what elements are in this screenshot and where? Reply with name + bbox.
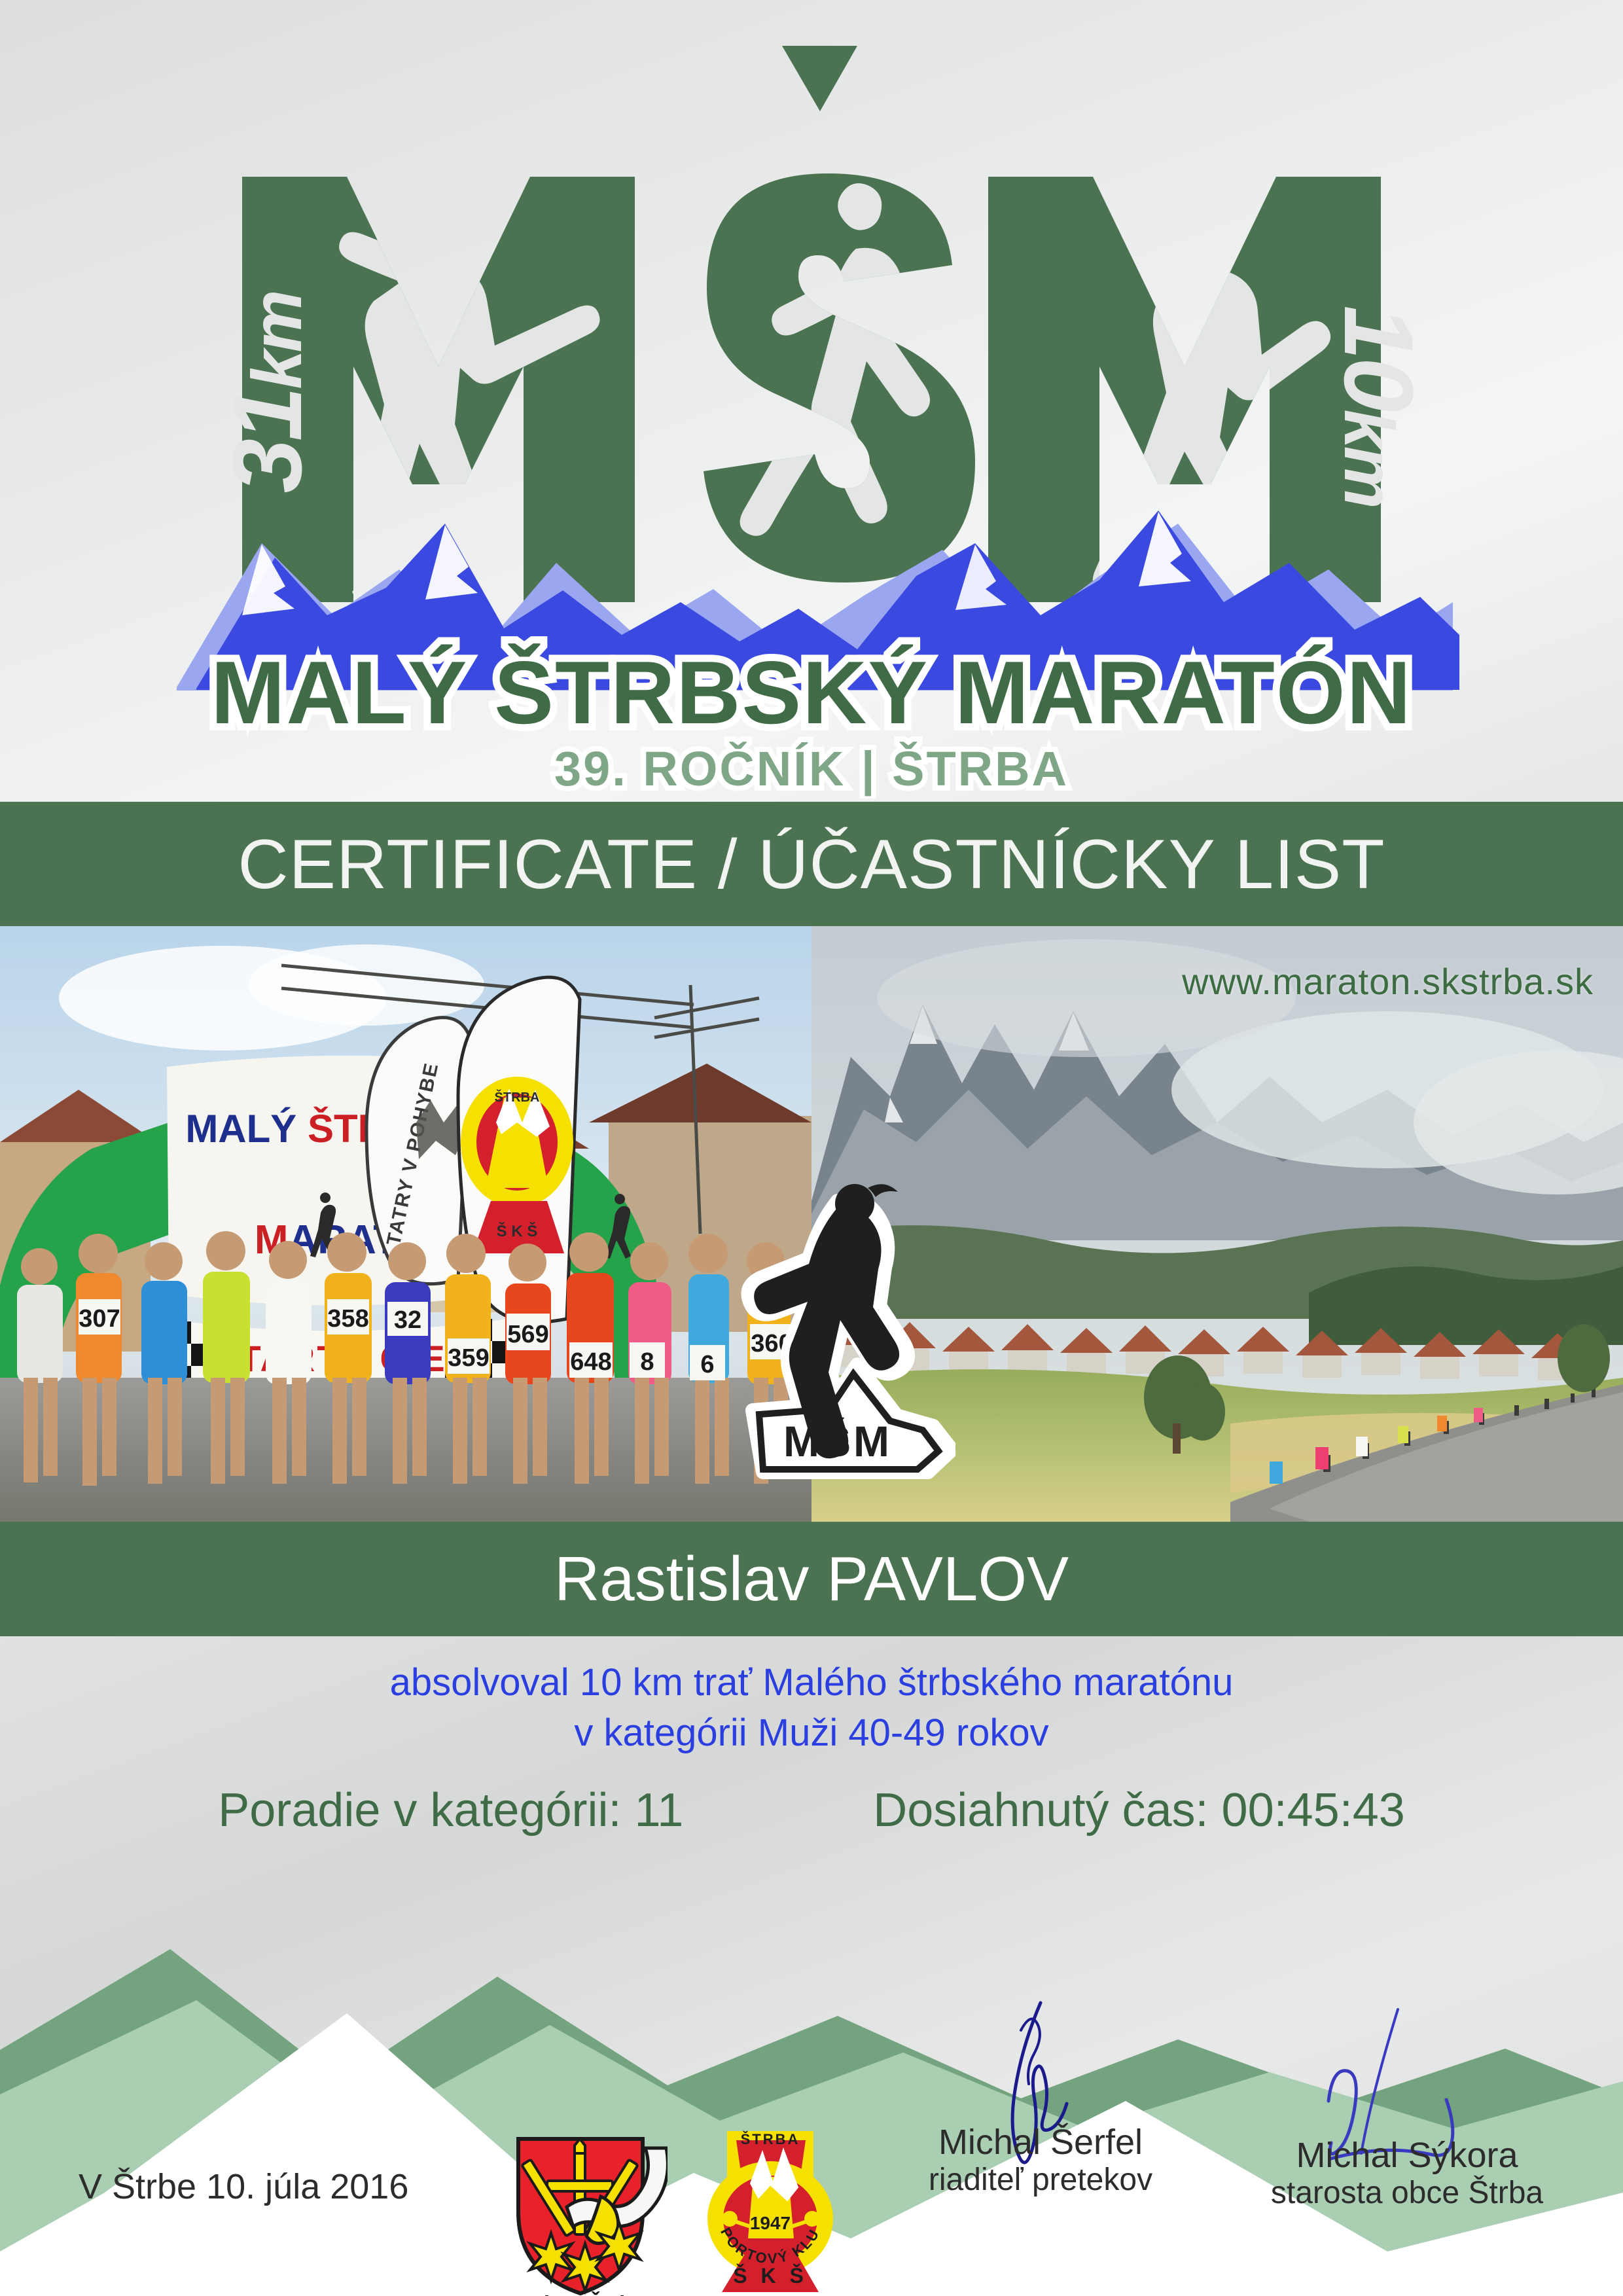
description-line-2: v kategórii Muži 40-49 rokov [0, 1708, 1623, 1759]
signatory-role: riaditeľ pretekov [857, 2161, 1224, 2199]
website-url: www.maraton.skstrba.sk [1182, 960, 1594, 1003]
flag-sks-top: ŠTRBA [495, 1089, 540, 1105]
svg-text:31km: 31km [212, 293, 322, 493]
bib-number: 8 [640, 1348, 654, 1376]
signature-block-director: Michal Šerfel riaditeľ pretekov [857, 2124, 1224, 2198]
achievement-description: absolvoval 10 km trať Malého štrbského m… [0, 1658, 1623, 1758]
photo-tatra-panorama: www.maraton.skstrba.sk [811, 926, 1623, 1522]
msm-logo-graphic: 31km 10km MALÝ ŠTRBSKÝ MARATÓN MA [137, 26, 1486, 798]
photo-start-line-graphic: MALÝ ŠTRBSKÝ MARATÓN [0, 926, 811, 1522]
signature-block-mayor: Michal Sýkora starosta obce Štrba [1224, 2137, 1590, 2212]
caron-accent [782, 46, 857, 111]
issue-date: V Štrbe 10. júla 2016 [79, 2166, 408, 2207]
signatory-name: Michal Sýkora [1224, 2137, 1590, 2174]
bib-number: 307 [79, 1305, 120, 1333]
finish-time: Dosiahnutý čas: 00:45:43 [873, 1784, 1405, 1837]
result-row: Poradie v kategórii: 11 Dosiahnutý čas: … [0, 1784, 1623, 1837]
signatory-name: Michal Šerfel [857, 2124, 1224, 2161]
svg-text:10km: 10km [1324, 306, 1434, 507]
result-details: absolvoval 10 km trať Malého štrbského m… [0, 1636, 1623, 1918]
signatory-role: starosta obce Štrba [1224, 2174, 1590, 2212]
sks-initials: Š K Š [733, 2264, 808, 2287]
category-rank: Poradie v kategórii: 11 [218, 1784, 683, 1837]
bib-number: 32 [394, 1306, 421, 1334]
distance-right-label: 10km [1324, 306, 1434, 507]
photo-strip: MALÝ ŠTRBSKÝ MARATÓN [0, 926, 1623, 1522]
participant-name-band: Rastislav PAVLOV [0, 1522, 1623, 1636]
bib-number: 648 [570, 1348, 611, 1376]
certificate-page: 31km 10km MALÝ ŠTRBSKÝ MARATÓN MA [0, 0, 1623, 2296]
certificate-footer: V Štrbe 10. júla 2016 Obec Štrba [0, 2062, 1623, 2296]
sks-year: 1947 [750, 2213, 791, 2233]
flag-sks-initials: Š K Š [497, 1222, 538, 1240]
bib-number: 358 [327, 1305, 368, 1333]
sks-top-label: ŠTRBA [741, 2131, 800, 2147]
certificate-title: CERTIFICATE / ÚČASTNÍCKY LIST [238, 829, 1385, 899]
bib-number: 360 [751, 1330, 792, 1357]
participant-name: Rastislav PAVLOV [554, 1548, 1069, 1611]
sks-club-logo: 1947 ŠTRBA ŠPORTOVÝ KLUB Š K Š [690, 2127, 851, 2296]
photo-start-line: MALÝ ŠTRBSKÝ MARATÓN [0, 926, 811, 1522]
bib-number: 359 [448, 1344, 489, 1372]
obec-strba-crest [504, 2134, 668, 2296]
photo-tatra-graphic [811, 926, 1623, 1522]
msm-logo: 31km 10km MALÝ ŠTRBSKÝ MARATÓN MA [137, 26, 1486, 798]
bib-number: 6 [700, 1351, 714, 1378]
event-title: MALÝ ŠTRBSKÝ MARATÓN [211, 643, 1412, 742]
bib-number: 569 [507, 1321, 548, 1348]
obec-strba-label: Obec Štrba [504, 2292, 668, 2296]
hero-logo-area: 31km 10km MALÝ ŠTRBSKÝ MARATÓN MA [0, 0, 1623, 802]
certificate-title-band: CERTIFICATE / ÚČASTNÍCKY LIST [0, 802, 1623, 926]
distance-left-label: 31km [212, 293, 322, 493]
event-subtitle: 39. ROČNÍK | ŠTRBA [554, 742, 1069, 797]
description-line-1: absolvoval 10 km trať Malého štrbského m… [0, 1658, 1623, 1708]
